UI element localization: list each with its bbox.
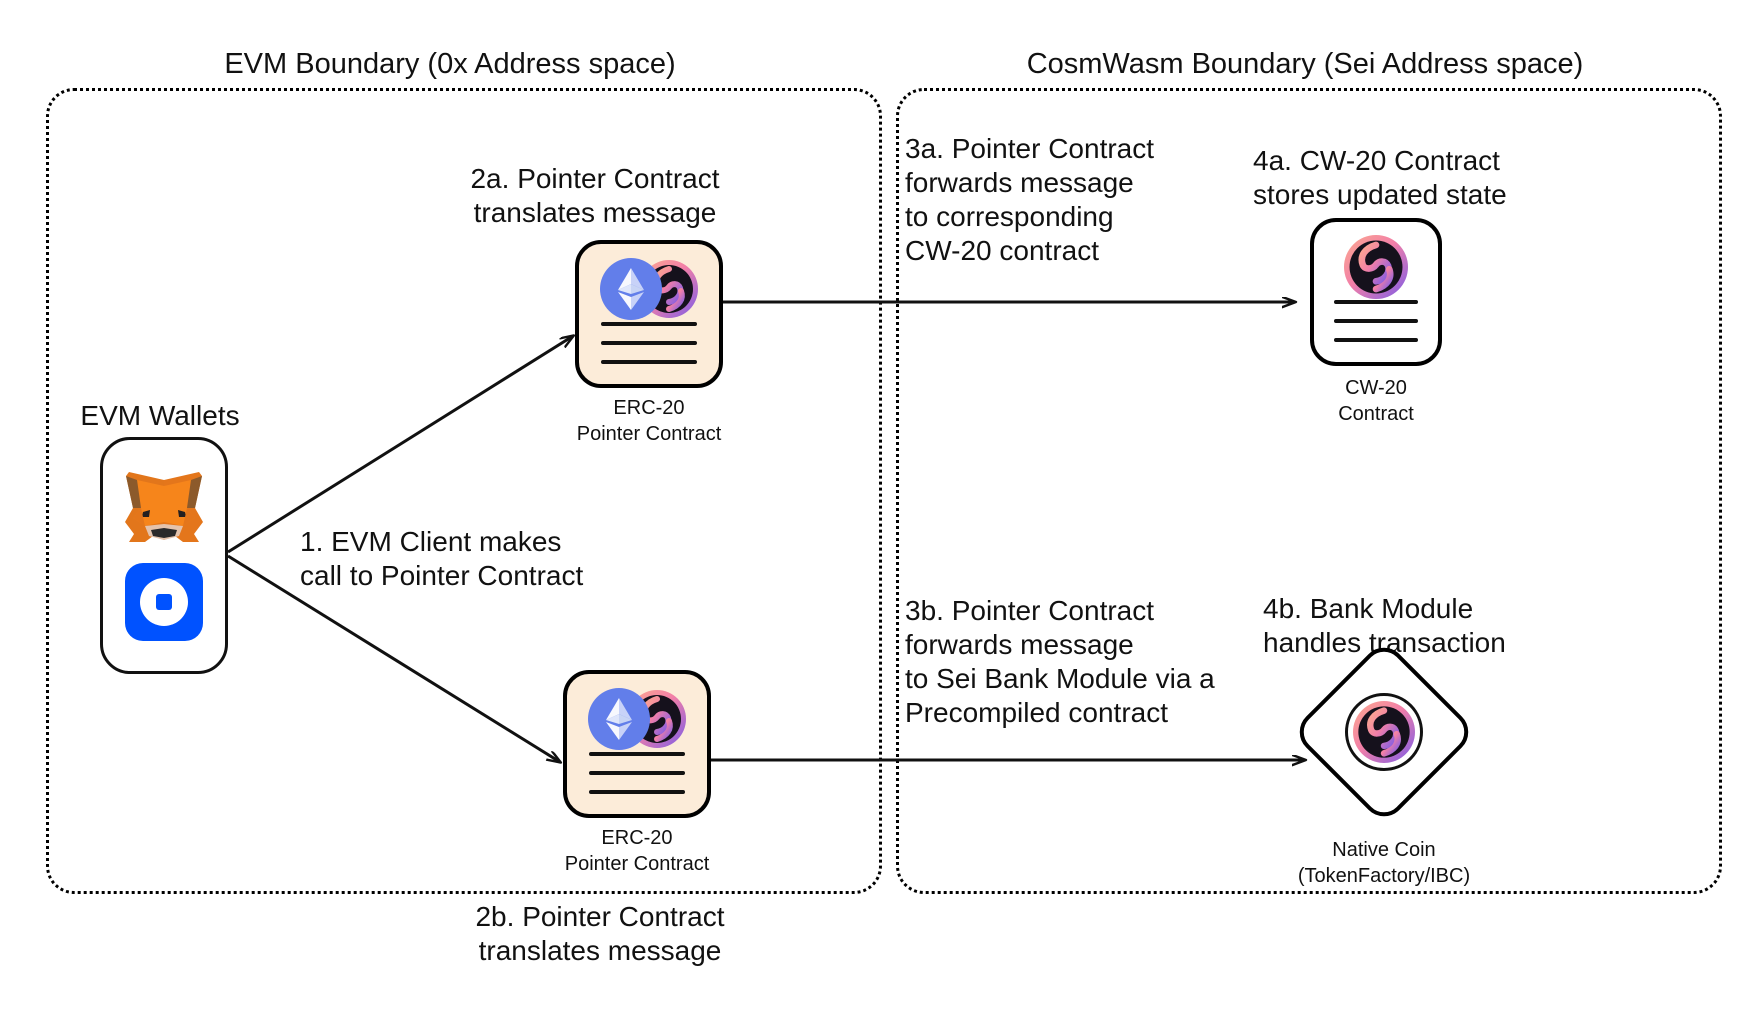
doc-line [589, 771, 684, 775]
cw20-contract-card[interactable] [1310, 218, 1442, 366]
pointer-bottom-doc-lines [589, 752, 684, 794]
doc-line [601, 341, 696, 345]
doc-line [589, 752, 684, 756]
pointer-top-logo-row [579, 257, 719, 321]
step-3a-label: 3a. Pointer Contract forwards message to… [905, 132, 1235, 269]
doc-line [1334, 319, 1418, 323]
cw20-doc-lines [1334, 300, 1418, 342]
evm-boundary-title: EVM Boundary (0x Address space) [40, 48, 860, 81]
doc-line [1334, 338, 1418, 342]
cw20-logo-row [1314, 235, 1438, 299]
evm-wallets-card[interactable] [100, 437, 228, 674]
doc-line [601, 360, 696, 364]
step-4b-label: 4b. Bank Module handles transaction [1263, 592, 1593, 660]
cw20-contract-caption: CW-20 Contract [1266, 376, 1486, 427]
cosmwasm-boundary-title: CosmWasm Boundary (Sei Address space) [890, 48, 1720, 81]
erc20-pointer-contract-card-bottom[interactable] [563, 670, 711, 818]
sei-icon [1353, 701, 1415, 763]
sei-icon [1344, 235, 1408, 299]
native-coin-logo-wrap [1318, 666, 1450, 798]
ethereum-icon [588, 688, 650, 750]
ethereum-icon [600, 258, 662, 320]
erc20-pointer-contract-caption-bottom: ERC-20 Pointer Contract [527, 826, 747, 877]
architecture-diagram: EVM Boundary (0x Address space) CosmWasm… [0, 0, 1746, 1026]
step-1-label: 1. EVM Client makes call to Pointer Cont… [300, 525, 720, 593]
pointer-top-doc-lines [601, 322, 696, 364]
pointer-bottom-logo-row [567, 687, 707, 751]
native-coin-caption: Native Coin (TokenFactory/IBC) [1274, 838, 1494, 889]
evm-wallets-title: EVM Wallets [20, 400, 300, 432]
step-3b-label: 3b. Pointer Contract forwards message to… [905, 594, 1285, 731]
doc-line [1334, 300, 1418, 304]
step-4a-label: 4a. CW-20 Contract stores updated state [1253, 144, 1583, 212]
coinbase-wallet-icon [125, 563, 203, 641]
doc-line [601, 322, 696, 326]
native-coin-ring [1345, 693, 1423, 771]
erc20-pointer-contract-card-top[interactable] [575, 240, 723, 388]
doc-line [589, 790, 684, 794]
step-2a-label: 2a. Pointer Contract translates message [430, 162, 760, 230]
step-2b-label: 2b. Pointer Contract translates message [430, 900, 770, 968]
erc20-pointer-contract-caption-top: ERC-20 Pointer Contract [539, 396, 759, 447]
metamask-icon [121, 470, 207, 550]
